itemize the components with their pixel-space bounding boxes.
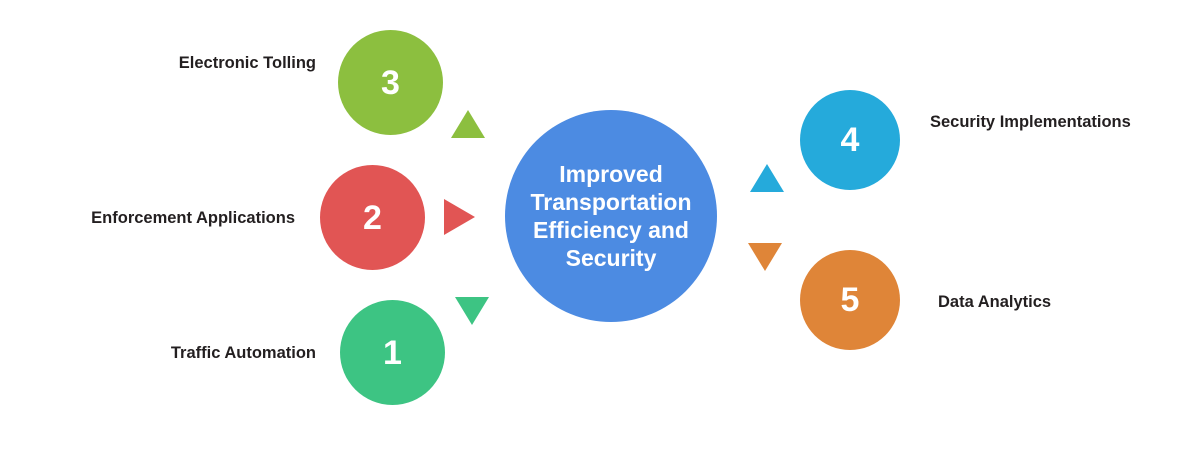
triangle-up-icon-4 [750, 164, 784, 192]
node-circle-2[interactable]: 2 [320, 165, 425, 270]
node-label-electronic-tolling: Electronic Tolling [56, 53, 316, 75]
hub-circle[interactable]: Improved Transportation Efficiency and S… [505, 110, 717, 322]
node-number-2: 2 [363, 201, 382, 235]
node-label-data-analytics: Data Analytics [938, 292, 1168, 314]
node-number-5: 5 [841, 283, 860, 317]
node-circle-1[interactable]: 1 [340, 300, 445, 405]
triangle-up-icon-3 [451, 110, 485, 138]
node-label-security-implementations: Security Implementations [930, 112, 1160, 134]
node-label-traffic-automation: Traffic Automation [56, 343, 316, 365]
node-number-4: 4 [841, 123, 860, 157]
diagram-canvas: Electronic Tolling 3 Enforcement Applica… [0, 0, 1200, 456]
node-circle-5[interactable]: 5 [800, 250, 900, 350]
node-circle-4[interactable]: 4 [800, 90, 900, 190]
triangle-right-icon-2 [444, 199, 475, 235]
node-circle-3[interactable]: 3 [338, 30, 443, 135]
node-label-enforcement-applications: Enforcement Applications [5, 208, 295, 230]
node-number-1: 1 [383, 336, 402, 370]
triangle-down-icon-1 [455, 297, 489, 325]
node-number-3: 3 [381, 66, 400, 100]
hub-label: Improved Transportation Efficiency and S… [521, 160, 701, 272]
triangle-down-icon-5 [748, 243, 782, 271]
